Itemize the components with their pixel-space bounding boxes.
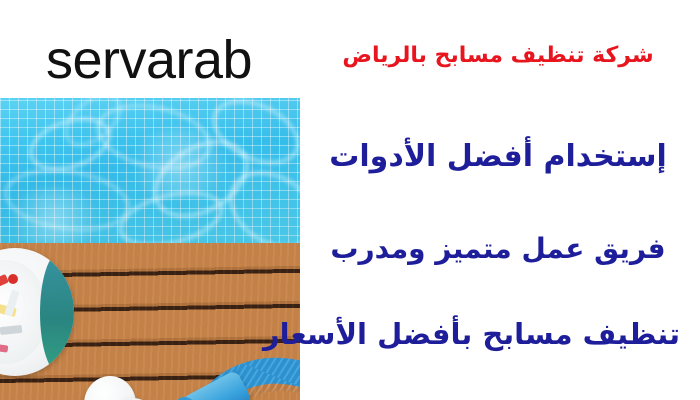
promo-banner: servarab [0, 0, 700, 400]
chemical-bucket [0, 248, 74, 376]
feature-line-2: فريق عمل متميز ومدرب [316, 233, 680, 265]
page-title: شركة تنظيف مسابح بالرياض [316, 43, 680, 69]
brand-logo[interactable]: servarab [46, 33, 252, 87]
feature-line-1: إستخدام أفضل الأدوات [316, 140, 680, 175]
test-strip [8, 274, 18, 284]
test-strip [0, 325, 22, 335]
text-column: شركة تنظيف مسابح بالرياض إستخدام أفضل ال… [316, 0, 680, 400]
pool-water [0, 98, 300, 245]
feature-line-3: تنظيف مسابح بأفضل الأسعار [316, 318, 680, 351]
test-strip [4, 289, 20, 316]
pool-photo [0, 98, 300, 400]
bucket-label [40, 252, 74, 374]
test-strip [0, 342, 8, 352]
